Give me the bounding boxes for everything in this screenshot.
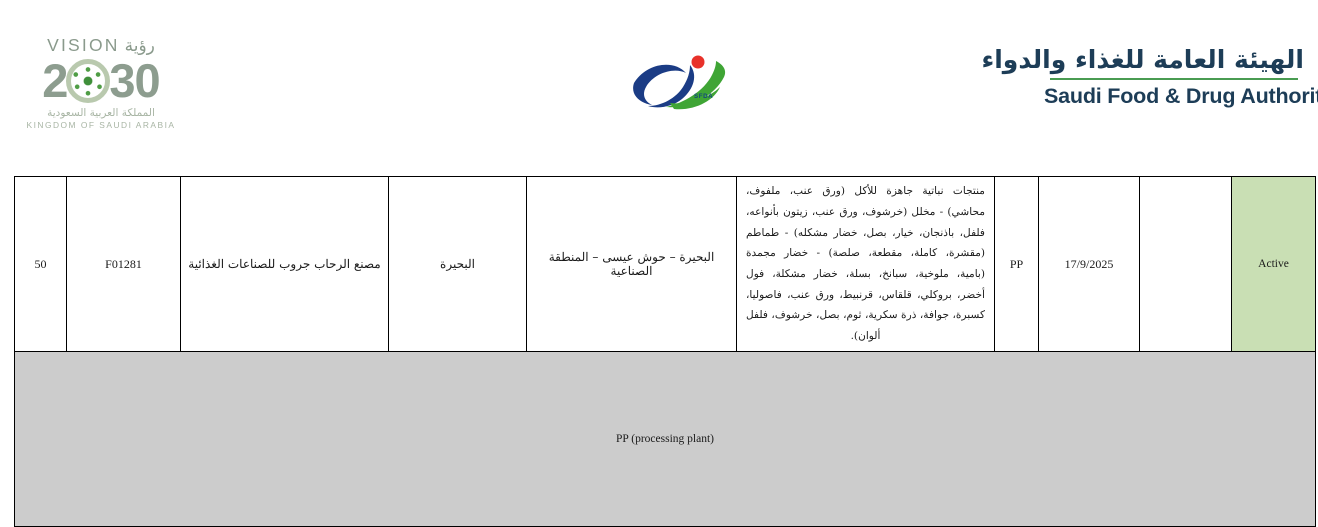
cell-city-value: البحيرة — [389, 253, 526, 275]
header-logo-band: VISION رؤية 2 30 المملكة العربية السعودي… — [0, 0, 1318, 150]
establishments-table: 50 F01281 مصنع الرحاب جروب للصناعات الغذ… — [14, 176, 1316, 527]
vision-year-left: 2 — [42, 58, 67, 104]
vision-kingdom-ar: المملكة العربية السعودية — [18, 108, 184, 119]
cell-plant-type-value: PP — [995, 253, 1038, 276]
sfda-wordmark: الهيئة العامة للغذاء والدواء Saudi Food … — [1044, 44, 1304, 109]
cell-code: F01281 — [67, 177, 181, 352]
status-badge: Active — [1232, 177, 1316, 352]
vision-2030-logo: VISION رؤية 2 30 المملكة العربية السعودي… — [18, 36, 184, 129]
cell-address: البحيرة – حوش عيسى – المنطقة الصناعية — [527, 177, 737, 352]
cell-products-value: منتجات نباتية جاهزة للأكل (ورق عنب، ملفو… — [737, 177, 994, 350]
table-footnote-row: PP (processing plant) — [15, 352, 1316, 527]
vision-kingdom-en: KINGDOM OF SAUDI ARABIA — [18, 121, 184, 129]
sfda-logo-mark: SFDA — [628, 53, 740, 115]
sfda-abbr-text: SFDA — [694, 93, 713, 100]
establishments-table-wrap: 50 F01281 مصنع الرحاب جروب للصناعات الغذ… — [14, 176, 1305, 527]
cell-date: 17/9/2025 — [1039, 177, 1140, 352]
cell-extra-value — [1140, 260, 1231, 268]
cell-city: البحيرة — [389, 177, 527, 352]
vision-year: 2 30 — [18, 58, 184, 104]
vision-wordline: VISION رؤية — [18, 36, 184, 56]
cell-index: 50 — [15, 177, 67, 352]
cell-products: منتجات نباتية جاهزة للأكل (ورق عنب، ملفو… — [737, 177, 995, 352]
table-row: 50 F01281 مصنع الرحاب جروب للصناعات الغذ… — [15, 177, 1316, 352]
cell-index-value: 50 — [15, 253, 66, 276]
cell-code-value: F01281 — [67, 253, 180, 276]
vision-word-ar: رؤية — [125, 38, 155, 55]
status-badge-value: Active — [1232, 254, 1315, 274]
table-footnote: PP (processing plant) — [15, 352, 1316, 527]
sfda-wordmark-arabic: الهيئة العامة للغذاء والدواء — [1044, 44, 1304, 75]
cell-address-value: البحيرة – حوش عيسى – المنطقة الصناعية — [527, 246, 736, 282]
palm-swords-emblem-icon — [66, 59, 110, 103]
cell-plant-type: PP — [995, 177, 1039, 352]
cell-date-value: 17/9/2025 — [1039, 253, 1139, 276]
sfda-wordmark-english: Saudi Food & Drug Authority — [1044, 84, 1304, 109]
cell-establishment-name: مصنع الرحاب جروب للصناعات الغذائية — [181, 177, 389, 352]
cell-establishment-name-value: مصنع الرحاب جروب للصناعات الغذائية — [181, 253, 388, 275]
vision-year-right: 30 — [109, 58, 159, 104]
cell-extra — [1140, 177, 1232, 352]
sfda-wordmark-rule — [1050, 78, 1298, 80]
vision-word-en: VISION — [47, 37, 120, 55]
